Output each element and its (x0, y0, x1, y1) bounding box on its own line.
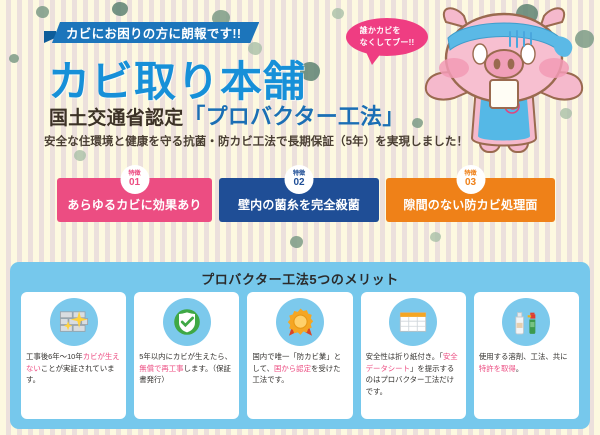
announcement-ribbon: カビにお困りの方に朗報です!! (52, 22, 259, 43)
lead-copy: 安全な住環境と健康を守る抗菌・防カビ工法で長期保証（5年）を実現しました！ (44, 133, 468, 149)
mold-spot (36, 6, 49, 18)
mold-spot (112, 2, 128, 16)
spray-bottle-icon (502, 298, 550, 346)
brick-wall-sparkle-icon (50, 298, 98, 346)
feature-label-3: 隙間のない防カビ処理面 (403, 196, 537, 213)
merits-card-list: 工事後6年～10年カビが生えないことが実証されています。 5年以内にカビが生えた… (21, 292, 579, 419)
feature-badge-number-3: 03 (465, 178, 476, 188)
plain-text: 5年以内にカビが生えたら、 (139, 352, 232, 361)
mold-spot (430, 232, 441, 242)
feature-box-1[interactable]: 特徴 01 あらゆるカビに効果あり (57, 178, 212, 222)
pig-mascot (424, 2, 600, 154)
feature-badge-number-2: 02 (293, 178, 304, 188)
mold-spot (74, 150, 86, 161)
merit-card-text: 5年以内にカビが生えたら、無償で再工事します。（保証書発行） (139, 351, 234, 386)
merits-panel: プロバクター工法5つのメリット 工事後6年～10年カビが生えないことが実証されて… (10, 262, 590, 429)
merits-title: プロバクター工法5つのメリット (10, 269, 590, 288)
merit-card[interactable]: 工事後6年～10年カビが生えないことが実証されています。 (21, 292, 126, 419)
highlighted-text: 国から認定 (274, 364, 311, 373)
merit-card-text: 工事後6年～10年カビが生えないことが実証されています。 (26, 351, 121, 386)
merit-card-text: 安全性は折り紙付き。「安全データシート」を提示するのはプロバクター工法だけです。 (366, 351, 461, 398)
mold-spot (290, 236, 303, 248)
mold-spot (412, 118, 423, 128)
feature-label-2: 壁内の菌糸を完全殺菌 (238, 196, 360, 213)
product-name: 「プロバクター工法」 (183, 104, 404, 129)
highlighted-text: 無償で再工事 (139, 364, 183, 373)
plain-text: 。 (516, 364, 523, 373)
feature-badge-1: 特徴 01 (120, 165, 149, 194)
announcement-ribbon-label: カビにお困りの方に朗報です!! (66, 23, 241, 42)
highlighted-text: 特許を取得 (479, 364, 516, 373)
speech-bubble: 誰かカビを なくしてブー!! (346, 18, 428, 56)
feature-badge-3: 特徴 03 (456, 165, 485, 194)
feature-badge-2: 特徴 02 (285, 165, 314, 194)
merit-card-text: 国内で唯一「防カビ業」として、国から認定を受けた工法です。 (252, 351, 347, 386)
data-sheet-icon (389, 298, 437, 346)
merit-card[interactable]: 安全性は折り紙付き。「安全データシート」を提示するのはプロバクター工法だけです。 (361, 292, 466, 419)
merit-card[interactable]: 使用する溶剤、工法、共に特許を取得。 (474, 292, 579, 419)
feature-badge-number-1: 01 (129, 178, 140, 188)
plain-text: 安全性は折り紙付き。「 (366, 352, 443, 361)
merit-card[interactable]: 国内で唯一「防カビ業」として、国から認定を受けた工法です。 (247, 292, 352, 419)
mold-spot (9, 54, 19, 63)
feature-box-2[interactable]: 特徴 02 壁内の菌糸を完全殺菌 (219, 178, 379, 222)
merit-card[interactable]: 5年以内にカビが生えたら、無償で再工事します。（保証書発行） (134, 292, 239, 419)
feature-label-1: あらゆるカビに効果あり (67, 196, 201, 213)
merit-card-text: 使用する溶剤、工法、共に特許を取得。 (479, 351, 574, 374)
certification-authority: 国土交通省認定 (49, 108, 183, 129)
mold-spot (332, 8, 344, 19)
landing-page: カビにお困りの方に朗報です!! カビ取り本舗 国土交通省認定「プロバクター工法」… (0, 0, 600, 435)
shield-check-icon (163, 298, 211, 346)
plain-text: 使用する溶剤、工法、共に (479, 352, 568, 361)
plain-text: 工事後6年～10年 (26, 352, 83, 361)
speech-bubble-text: 誰かカビを なくしてブー!! (360, 25, 415, 48)
certification-subtitle: 国土交通省認定「プロバクター工法」 (49, 99, 405, 131)
feature-box-3[interactable]: 特徴 03 隙間のない防カビ処理面 (386, 178, 555, 222)
award-rosette-icon (276, 298, 324, 346)
